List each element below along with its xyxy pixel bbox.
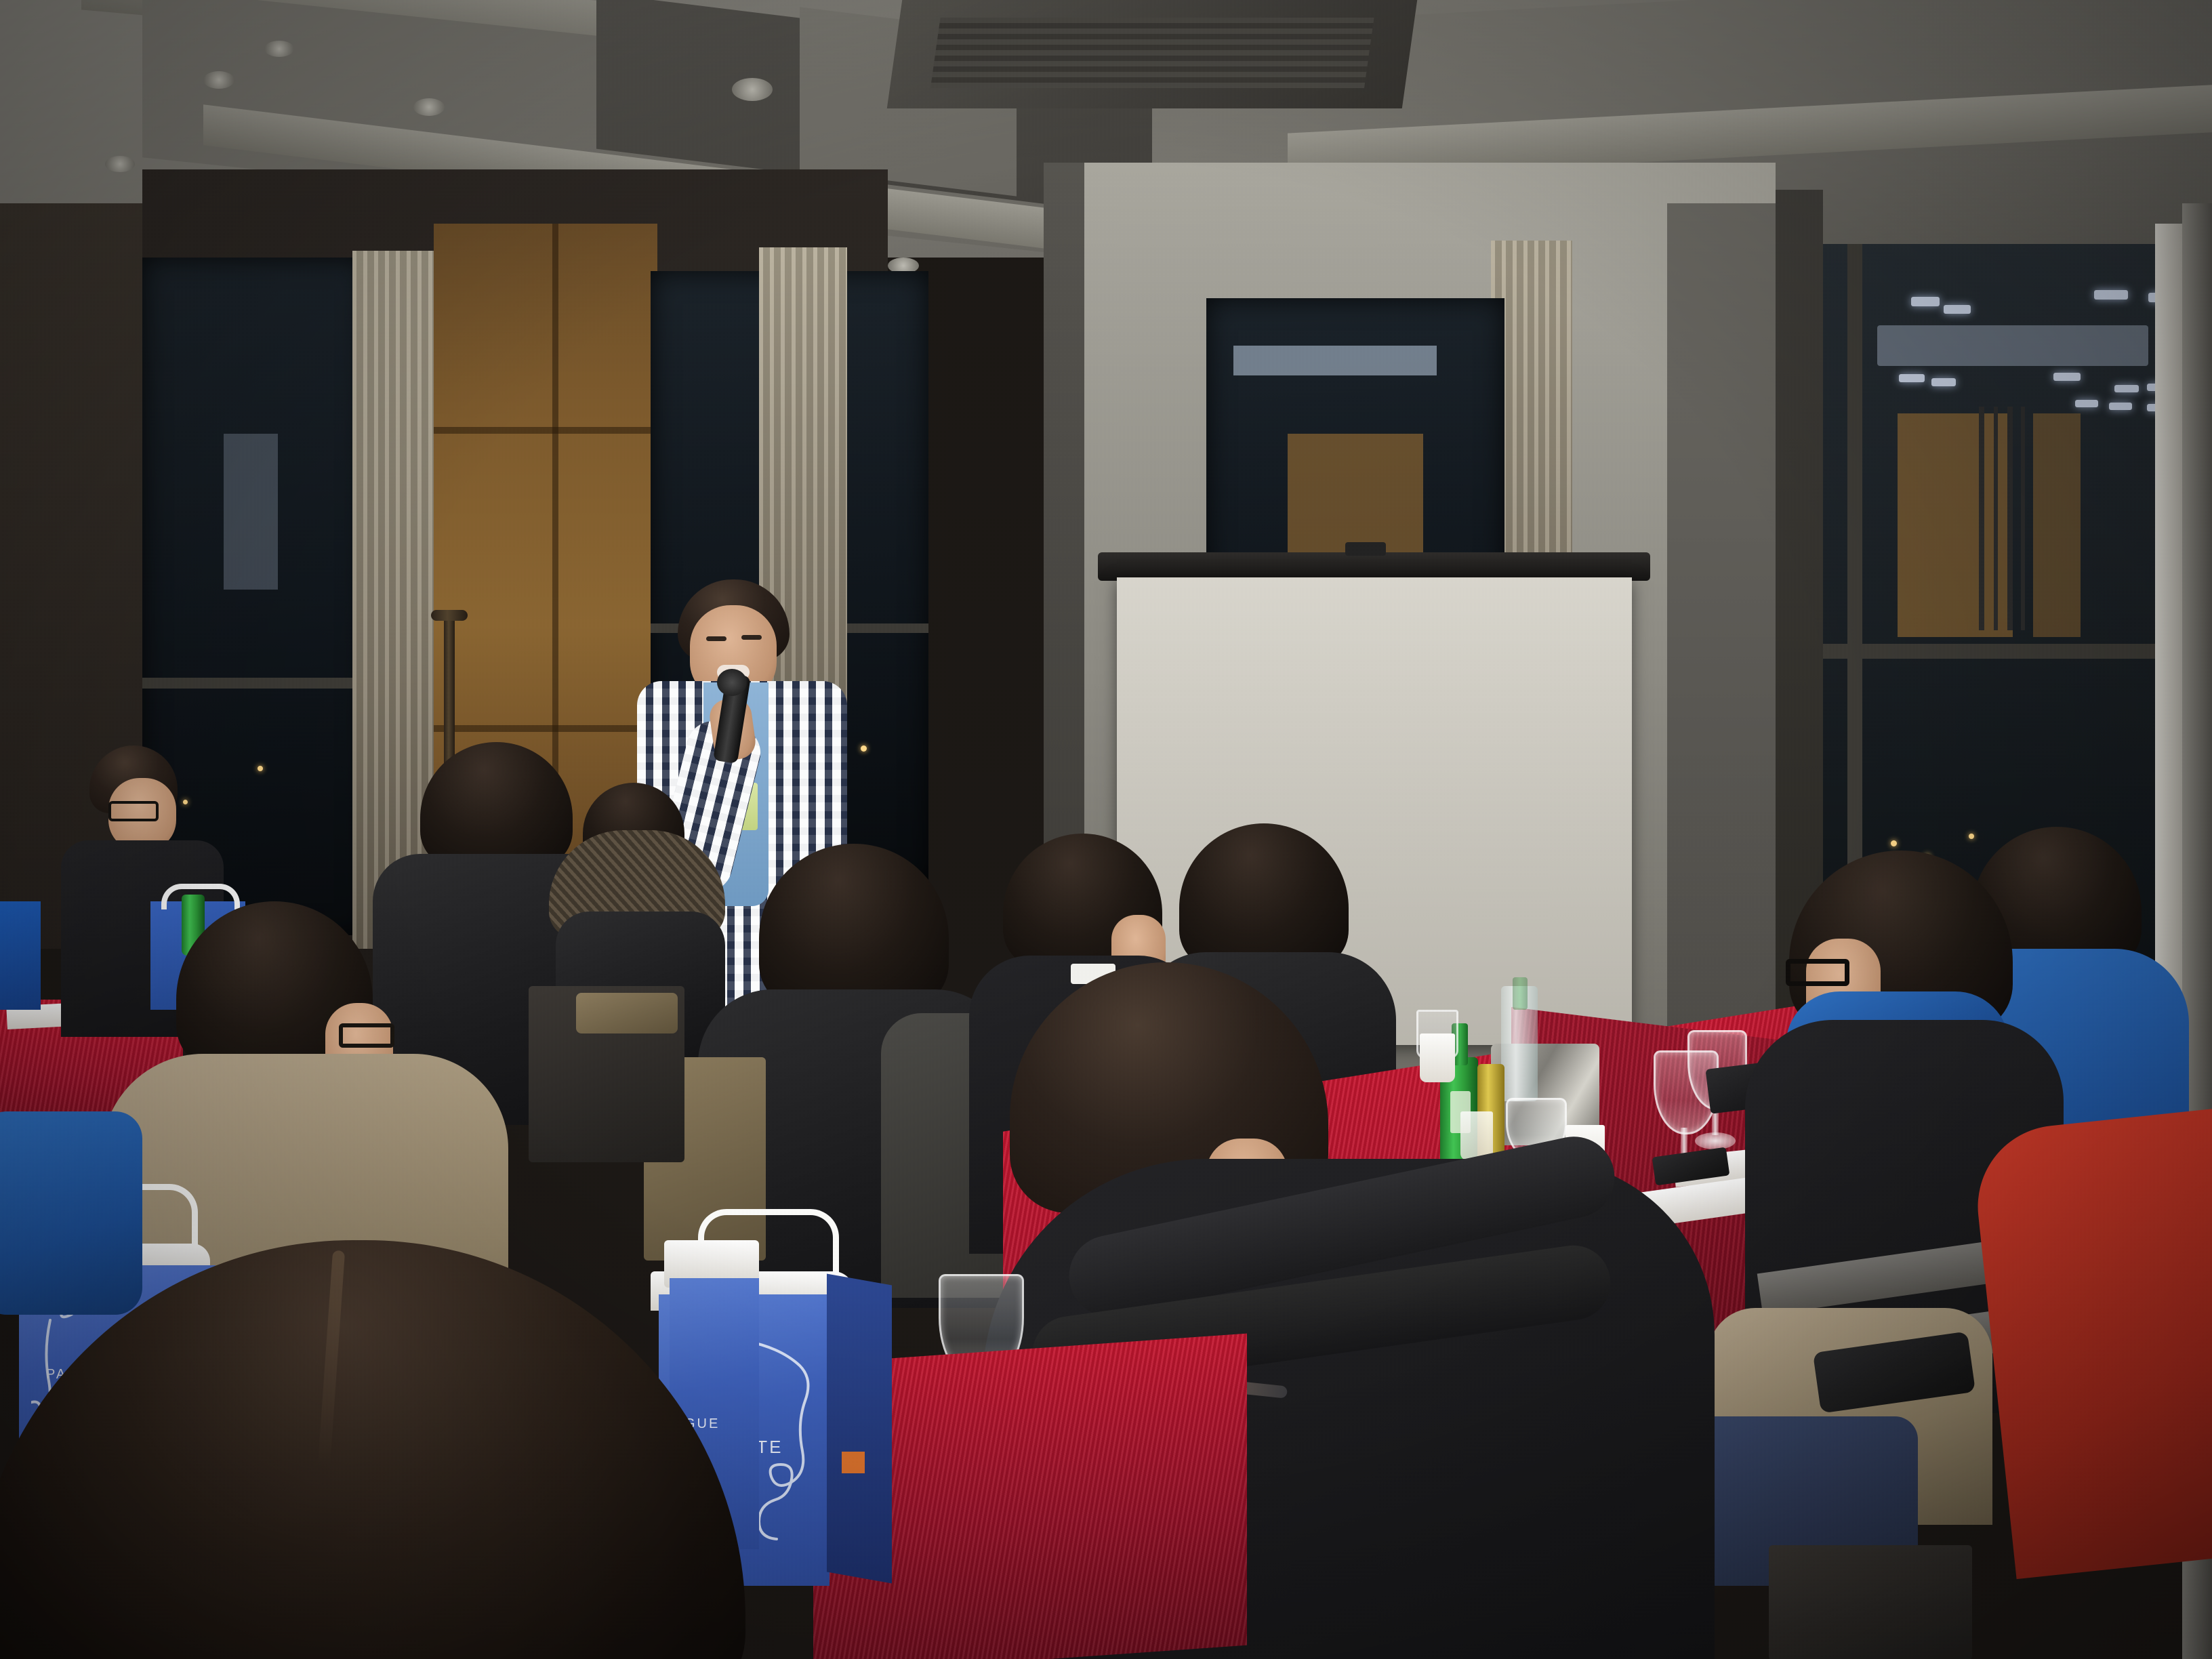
ceiling-downlight bbox=[105, 156, 135, 172]
projection-screen-mount bbox=[1345, 542, 1386, 556]
coat-rack-top bbox=[431, 610, 468, 621]
ceiling-downlight bbox=[203, 71, 234, 89]
glasses-icon bbox=[339, 1023, 394, 1048]
seminar-room-photo: INDEX 99분 토론동아리 01 동아리활동 bbox=[0, 0, 2212, 1659]
presenter-eye-left bbox=[706, 636, 726, 641]
ceiling-downlight bbox=[264, 41, 294, 57]
ceiling-downlight bbox=[732, 78, 773, 101]
chair-back bbox=[576, 993, 678, 1033]
microphone-head bbox=[717, 669, 747, 696]
presenter-eye-right bbox=[741, 635, 762, 640]
ceiling-downlight bbox=[413, 98, 445, 116]
gift-bag-far-left bbox=[0, 901, 41, 1010]
glasses-icon bbox=[1786, 959, 1849, 986]
chair bbox=[1769, 1545, 1972, 1659]
air-conditioner-grille bbox=[930, 18, 1374, 88]
attendee-blue-coat-left bbox=[0, 1111, 142, 1315]
ceiling-air-conditioner bbox=[887, 0, 1417, 108]
projection-screen-case bbox=[1098, 552, 1650, 581]
red-jacket-on-chair bbox=[1970, 1105, 2212, 1579]
glasses-icon bbox=[108, 801, 159, 821]
